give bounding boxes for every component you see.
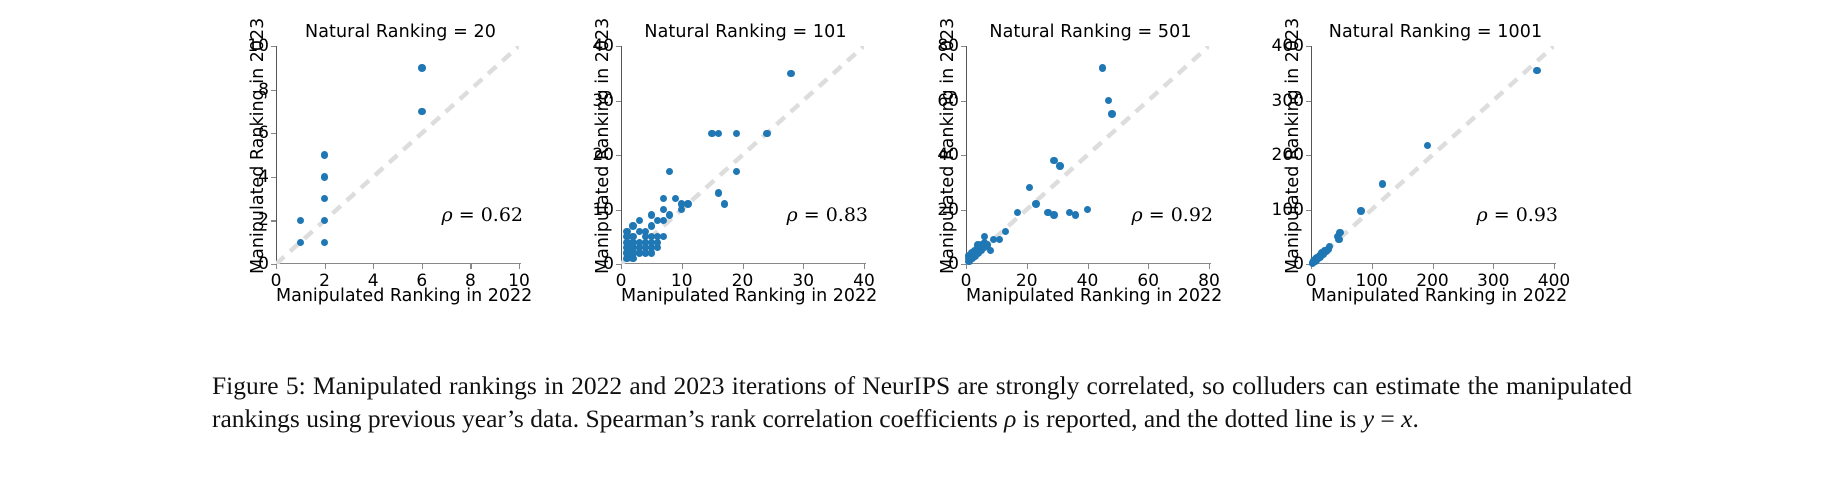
y-tick	[271, 133, 276, 134]
scatter-point	[297, 217, 304, 224]
scatter-point	[321, 217, 328, 224]
scatter-point	[684, 200, 691, 207]
scatter-point	[715, 130, 722, 137]
panel-natural-ranking-501: Natural Ranking = 501 020406080020406080…	[918, 22, 1263, 312]
y-axis-spine	[1311, 46, 1312, 264]
x-tick	[1148, 264, 1149, 269]
scatter-point	[418, 64, 425, 71]
identity-line	[1311, 46, 1554, 264]
rho-value: = 0.83	[804, 204, 868, 226]
x-tick	[1372, 264, 1373, 269]
scatter-point	[1108, 110, 1115, 117]
x-tick	[422, 264, 423, 269]
x-axis-label: Manipulated Ranking in 2022	[966, 286, 1209, 306]
plot-canvas: 020406080020406080	[966, 46, 1209, 264]
scatter-point	[1357, 207, 1364, 214]
x-tick	[325, 264, 326, 269]
scatter-point	[1002, 228, 1009, 235]
y-tick	[271, 220, 276, 221]
rho-symbol: ρ	[787, 204, 798, 226]
scatter-point	[1084, 206, 1091, 213]
scatter-point	[1032, 200, 1039, 207]
caption-label: Figure 5:	[212, 371, 306, 400]
scatter-point	[1379, 180, 1386, 187]
scatter-point	[733, 130, 740, 137]
y-tick	[961, 210, 966, 211]
identity-line	[621, 46, 864, 264]
y-tick	[271, 264, 276, 265]
rho-annotation: ρ = 0.62	[442, 204, 523, 226]
scatter-point	[1056, 162, 1063, 169]
x-axis-label: Manipulated Ranking in 2022	[621, 286, 864, 306]
rho-symbol: ρ	[1132, 204, 1143, 226]
scatter-point	[1105, 97, 1112, 104]
caption-line-1: Manipulated rankings in 2022 and 2023 it…	[313, 371, 1326, 400]
plot-canvas: 02468100246810	[276, 46, 519, 264]
scatter-point	[721, 200, 728, 207]
rho-symbol: ρ	[442, 204, 453, 226]
x-tick	[1433, 264, 1434, 269]
y-tick	[616, 101, 621, 102]
y-axis-label: Manipulated Ranking in 2023	[1283, 56, 1303, 274]
caption-period: .	[1413, 404, 1419, 433]
x-tick	[276, 264, 277, 269]
scatter-point	[321, 151, 328, 158]
plot-canvas: 01002003004000100200300400	[1311, 46, 1554, 264]
scatter-point	[297, 239, 304, 246]
figure-caption: Figure 5: Manipulated rankings in 2022 a…	[212, 370, 1632, 436]
scatter-point	[1072, 211, 1079, 218]
scatter-point	[715, 189, 722, 196]
y-axis-spine	[966, 46, 967, 264]
x-axis-label: Manipulated Ranking in 2022	[276, 286, 519, 306]
scatter-point	[636, 217, 643, 224]
rho-annotation: ρ = 0.93	[1477, 204, 1558, 226]
scatter-point	[1014, 209, 1021, 216]
x-tick	[1554, 264, 1555, 269]
x-tick	[803, 264, 804, 269]
y-tick	[1306, 210, 1311, 211]
axes-area: 01002003004000100200300400 ρ = 0.93	[1311, 46, 1554, 264]
rho-value: = 0.62	[459, 204, 523, 226]
rho-symbol: ρ	[1477, 204, 1488, 226]
y-axis-spine	[276, 46, 277, 264]
panel-title: Natural Ranking = 101	[573, 22, 918, 42]
panel-natural-ranking-20: Natural Ranking = 20 02468100246810 ρ = …	[228, 22, 573, 312]
x-tick	[1209, 264, 1210, 269]
y-tick	[1306, 101, 1311, 102]
panel-natural-ranking-1001: Natural Ranking = 1001 01002003004000100…	[1263, 22, 1608, 312]
scatter-point	[1326, 243, 1333, 250]
scatter-point	[660, 233, 667, 240]
scatter-point	[648, 222, 655, 229]
y-tick	[271, 46, 276, 47]
panel-row: Natural Ranking = 20 02468100246810 ρ = …	[228, 22, 1608, 312]
y-axis-label: Manipulated Ranking in 2023	[248, 56, 268, 274]
scatter-point	[1337, 229, 1344, 236]
x-tick	[470, 264, 471, 269]
scatter-point	[1099, 64, 1106, 71]
x-tick	[1493, 264, 1494, 269]
y-tick	[271, 177, 276, 178]
scatter-point	[1335, 236, 1342, 243]
scatter-point	[1533, 67, 1540, 74]
identity-line	[276, 46, 519, 264]
scatter-point	[1424, 142, 1431, 149]
y-tick	[1306, 155, 1311, 156]
x-tick	[621, 264, 622, 269]
x-tick	[743, 264, 744, 269]
scatter-point	[1050, 211, 1057, 218]
plot-canvas: 010203040010203040	[621, 46, 864, 264]
scatter-point	[733, 168, 740, 175]
scatter-point	[1026, 184, 1033, 191]
y-tick	[616, 46, 621, 47]
y-axis-label: Manipulated Ranking in 2023	[593, 56, 613, 274]
rho-annotation: ρ = 0.92	[1132, 204, 1213, 226]
panel-title: Natural Ranking = 1001	[1263, 22, 1608, 42]
y-tick	[616, 155, 621, 156]
caption-x-symbol: x	[1401, 404, 1412, 433]
caption-equals: =	[1374, 404, 1401, 433]
rho-annotation: ρ = 0.83	[787, 204, 868, 226]
x-tick	[1027, 264, 1028, 269]
y-tick	[616, 264, 621, 265]
axes-area: 020406080020406080 ρ = 0.92	[966, 46, 1209, 264]
scatter-point	[987, 247, 994, 254]
scatter-point	[321, 173, 328, 180]
x-tick	[373, 264, 374, 269]
rho-value: = 0.93	[1494, 204, 1558, 226]
y-axis-label: Manipulated Ranking in 2023	[938, 56, 958, 274]
scatter-point	[321, 195, 328, 202]
y-axis-spine	[621, 46, 622, 264]
panel-title: Natural Ranking = 501	[918, 22, 1263, 42]
figure-root: Natural Ranking = 20 02468100246810 ρ = …	[0, 0, 1836, 495]
x-tick	[864, 264, 865, 269]
x-tick	[1088, 264, 1089, 269]
scatter-point	[666, 168, 673, 175]
scatter-point	[321, 239, 328, 246]
x-axis-spine	[276, 263, 521, 264]
x-tick	[682, 264, 683, 269]
axes-area: 010203040010203040 ρ = 0.83	[621, 46, 864, 264]
x-axis-label: Manipulated Ranking in 2022	[1311, 286, 1554, 306]
y-tick	[271, 90, 276, 91]
y-tick	[961, 46, 966, 47]
y-tick	[1306, 46, 1311, 47]
scatter-point	[996, 236, 1003, 243]
rho-value: = 0.92	[1149, 204, 1213, 226]
caption-line-3-text: is reported, and the dotted line is	[1016, 404, 1362, 433]
panel-natural-ranking-101: Natural Ranking = 101 010203040010203040…	[573, 22, 918, 312]
x-tick	[519, 264, 520, 269]
y-tick	[961, 155, 966, 156]
scatter-point	[660, 195, 667, 202]
panel-title: Natural Ranking = 20	[228, 22, 573, 42]
axes-area: 02468100246810 ρ = 0.62	[276, 46, 519, 264]
y-tick	[616, 210, 621, 211]
y-tick	[961, 101, 966, 102]
caption-rho-symbol: ρ	[1004, 404, 1016, 433]
scatter-point	[787, 70, 794, 77]
scatter-point	[418, 108, 425, 115]
caption-y-symbol: y	[1363, 404, 1374, 433]
scatter-point	[666, 211, 673, 218]
scatter-point	[763, 130, 770, 137]
